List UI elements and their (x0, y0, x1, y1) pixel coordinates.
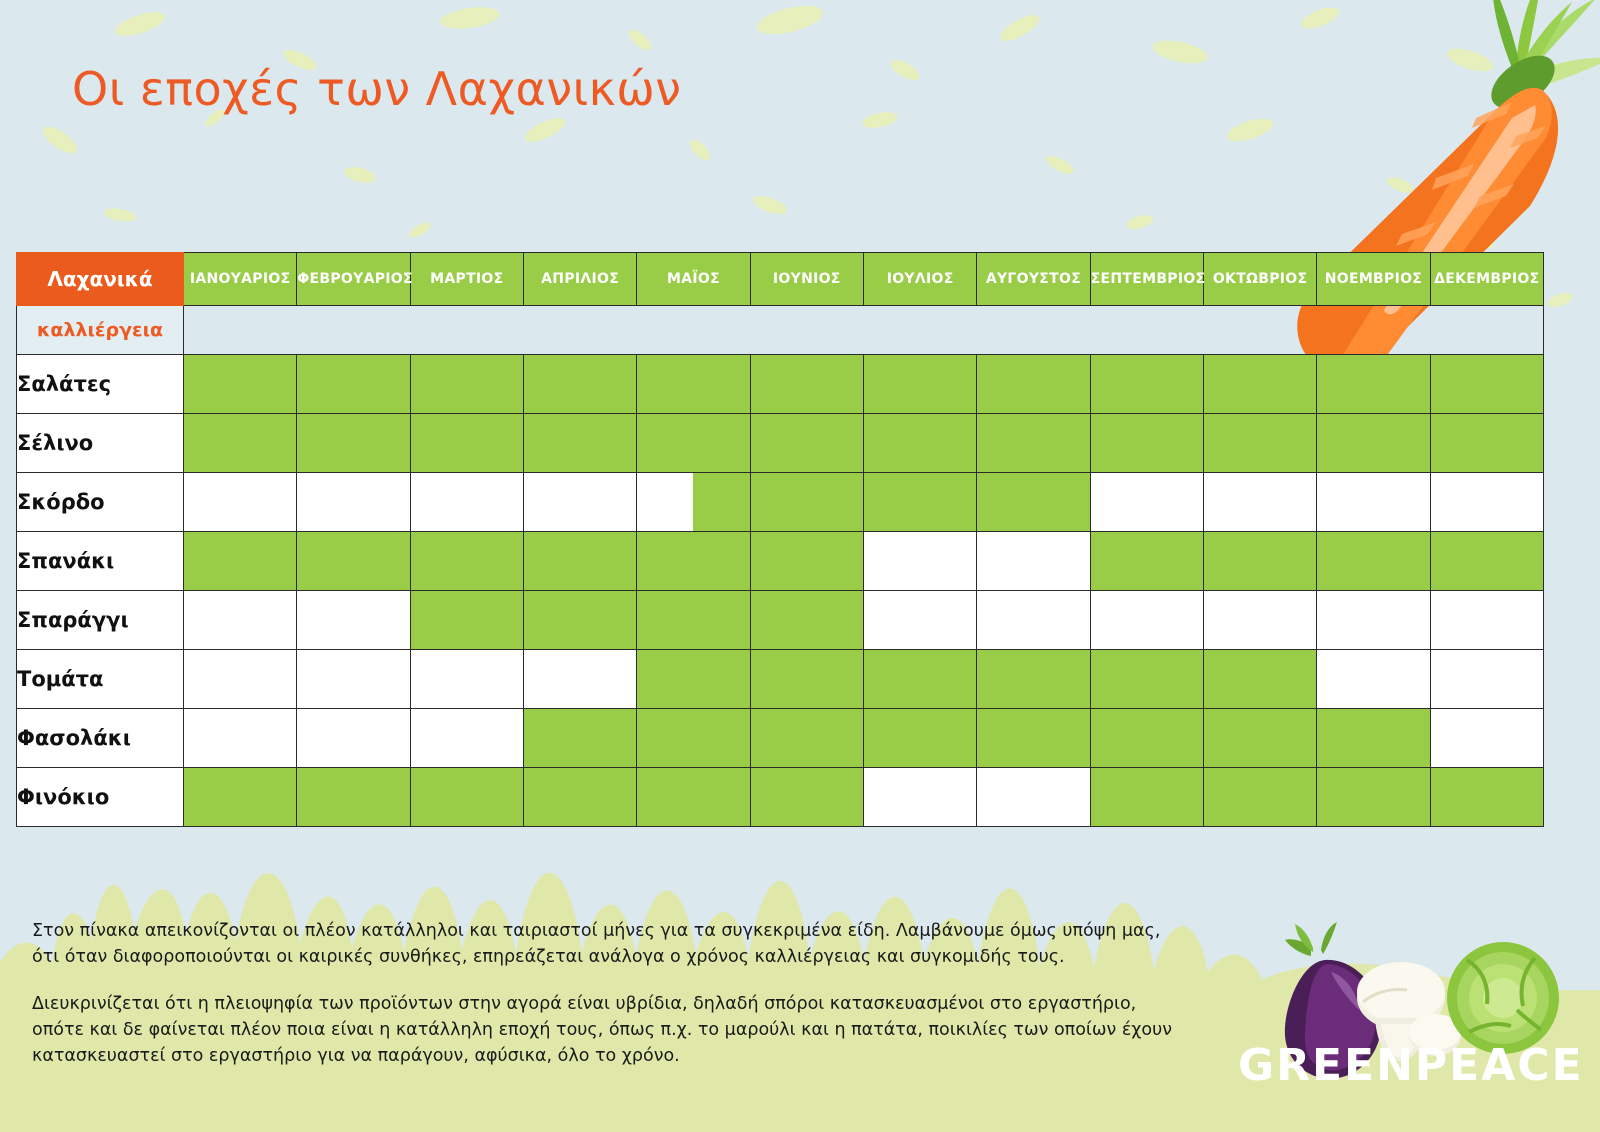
season-cell (184, 591, 297, 650)
season-cell (523, 473, 636, 532)
season-cell (1090, 650, 1203, 709)
season-cell (637, 355, 750, 414)
season-cell (637, 473, 750, 532)
season-cell (410, 473, 523, 532)
season-cell (1430, 355, 1543, 414)
season-cell (977, 591, 1090, 650)
season-cell (863, 473, 976, 532)
season-cell (184, 355, 297, 414)
column-header-month-4: ΑΠΡΙΛΙΟΣ (523, 253, 636, 306)
season-cell (1430, 591, 1543, 650)
season-cell (637, 414, 750, 473)
table-header-row: Λαχανικά ΙΑΝΟΥΑΡΙΟΣ ΦΕΒΡΟΥΑΡΙΟΣ ΜΑΡΤΙΟΣ … (17, 253, 1544, 306)
season-cell (297, 591, 410, 650)
season-cell (637, 650, 750, 709)
seasons-table-wrapper: Λαχανικά ΙΑΝΟΥΑΡΙΟΣ ΦΕΒΡΟΥΑΡΙΟΣ ΜΑΡΤΙΟΣ … (16, 252, 1544, 827)
column-header-month-1: ΙΑΝΟΥΑΡΙΟΣ (184, 253, 297, 306)
season-cell (410, 650, 523, 709)
season-cell (1203, 650, 1316, 709)
table-subheader-row: καλλιέργεια (17, 306, 1544, 355)
season-cell (863, 532, 976, 591)
table-row: Σκόρδο (17, 473, 1544, 532)
season-cell (637, 709, 750, 768)
season-cell (863, 650, 976, 709)
season-cell (297, 709, 410, 768)
season-cell (1317, 414, 1430, 473)
greenpeace-wordmark: GREENPEACE (1238, 1040, 1568, 1091)
table-header: Λαχανικά ΙΑΝΟΥΑΡΙΟΣ ΦΕΒΡΟΥΑΡΙΟΣ ΜΑΡΤΙΟΣ … (17, 253, 1544, 355)
season-cell (977, 709, 1090, 768)
vegetable-name: Σαλάτες (17, 355, 184, 414)
season-cell (1203, 709, 1316, 768)
footer-paragraph-1: Στον πίνακα απεικονίζονται οι πλέον κατά… (32, 918, 1172, 971)
season-cell (1203, 532, 1316, 591)
footer-text-block: Στον πίνακα απεικονίζονται οι πλέον κατά… (32, 918, 1172, 1089)
season-cell (750, 650, 863, 709)
table-row: Φασολάκι (17, 709, 1544, 768)
season-cell (863, 591, 976, 650)
vegetable-name: Σκόρδο (17, 473, 184, 532)
season-cell (1090, 709, 1203, 768)
season-cell (184, 650, 297, 709)
column-header-month-7: ΙΟΥΛΙΟΣ (863, 253, 976, 306)
season-cell (1430, 414, 1543, 473)
season-cell (1090, 591, 1203, 650)
column-header-month-12: ΔΕΚΕΜΒΡΙΟΣ (1430, 253, 1543, 306)
season-cell (1430, 473, 1543, 532)
season-cell (1203, 591, 1316, 650)
season-cell (523, 532, 636, 591)
season-cell (1317, 532, 1430, 591)
season-cell (1203, 355, 1316, 414)
season-cell (1090, 473, 1203, 532)
poster-root: Οι εποχές των Λαχανικών Λαχανικά ΙΑΝΟΥΑΡ… (0, 0, 1600, 1132)
season-cell (184, 473, 297, 532)
column-header-month-6: ΙΟΥΝΙΟΣ (750, 253, 863, 306)
page-title: Οι εποχές των Λαχανικών (72, 62, 681, 116)
season-cell (184, 709, 297, 768)
season-cell (410, 709, 523, 768)
season-cell (1203, 473, 1316, 532)
season-cell (297, 355, 410, 414)
season-cell (297, 473, 410, 532)
vegetable-name: Σπαράγγι (17, 591, 184, 650)
table-row: Σαλάτες (17, 355, 1544, 414)
vegetable-name: Σπανάκι (17, 532, 184, 591)
season-cell (523, 709, 636, 768)
season-cell (977, 650, 1090, 709)
season-cell (977, 473, 1090, 532)
season-cell (1317, 473, 1430, 532)
subheader-cultivation: καλλιέργεια (17, 306, 184, 355)
season-cell (523, 650, 636, 709)
season-cell (410, 355, 523, 414)
table-row: Σπαράγγι (17, 591, 1544, 650)
season-cell (184, 532, 297, 591)
season-cell (1317, 650, 1430, 709)
column-header-vegetables: Λαχανικά (17, 253, 184, 306)
season-cell (750, 532, 863, 591)
season-cell (523, 355, 636, 414)
season-cell (863, 355, 976, 414)
footer: Στον πίνακα απεικονίζονται οι πλέον κατά… (0, 900, 1600, 1132)
season-cell (750, 591, 863, 650)
season-cell (863, 709, 976, 768)
column-header-month-3: ΜΑΡΤΙΟΣ (410, 253, 523, 306)
season-cell (637, 591, 750, 650)
column-header-month-5: ΜΑΪΟΣ (637, 253, 750, 306)
season-cell (1090, 414, 1203, 473)
vegetable-name: Τομάτα (17, 650, 184, 709)
subheader-spacer (184, 306, 1544, 355)
season-cell (1203, 414, 1316, 473)
season-cell (750, 473, 863, 532)
column-header-month-8: ΑΥΓΟΥΣΤΟΣ (977, 253, 1090, 306)
season-cell (297, 532, 410, 591)
season-cell (1317, 709, 1430, 768)
season-cell (1430, 532, 1543, 591)
season-cell (297, 414, 410, 473)
vegetable-name: Φασολάκι (17, 709, 184, 768)
season-cell (637, 532, 750, 591)
season-cell (977, 355, 1090, 414)
season-cell (1090, 532, 1203, 591)
season-cell (750, 709, 863, 768)
season-cell (1090, 355, 1203, 414)
table-row: Σπανάκι (17, 532, 1544, 591)
column-header-month-11: ΝΟΕΜΒΡΙΟΣ (1317, 253, 1430, 306)
season-cell (184, 414, 297, 473)
season-cell (1430, 709, 1543, 768)
table-row: Σέλινο (17, 414, 1544, 473)
season-cell (1430, 650, 1543, 709)
season-cell (863, 414, 976, 473)
season-cell (523, 591, 636, 650)
season-cell (750, 355, 863, 414)
season-cell (523, 414, 636, 473)
table-row: Τομάτα (17, 650, 1544, 709)
vegetable-name: Σέλινο (17, 414, 184, 473)
season-cell (750, 414, 863, 473)
season-cell (1317, 591, 1430, 650)
season-cell (410, 414, 523, 473)
season-cell (410, 532, 523, 591)
season-cell (297, 650, 410, 709)
column-header-month-2: ΦΕΒΡΟΥΑΡΙΟΣ (297, 253, 410, 306)
column-header-month-9: ΣΕΠΤΕΜΒΡΙΟΣ (1090, 253, 1203, 306)
season-cell (1317, 355, 1430, 414)
season-cell (977, 414, 1090, 473)
seasons-table: Λαχανικά ΙΑΝΟΥΑΡΙΟΣ ΦΕΒΡΟΥΑΡΙΟΣ ΜΑΡΤΙΟΣ … (16, 252, 1544, 827)
season-cell (410, 591, 523, 650)
footer-paragraph-2: Διευκρινίζεται ότι η πλειοψηφία των προϊ… (32, 991, 1172, 1070)
season-cell (977, 532, 1090, 591)
lettuce-icon (1447, 942, 1559, 1054)
table-body: ΣαλάτεςΣέλινοΣκόρδοΣπανάκιΣπαράγγιΤομάτα… (17, 355, 1544, 827)
column-header-month-10: ΟΚΤΩΒΡΙΟΣ (1203, 253, 1316, 306)
